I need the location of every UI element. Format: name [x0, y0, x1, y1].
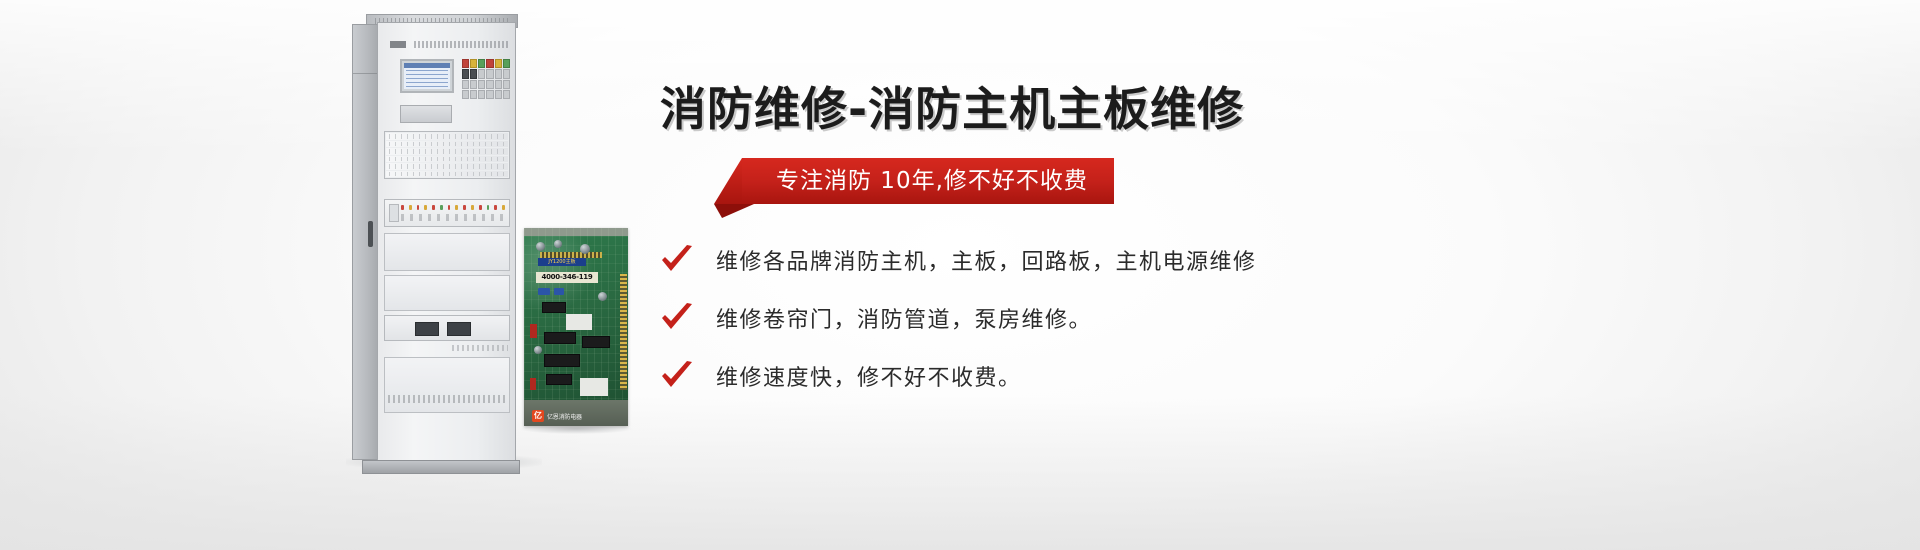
cabinet-brand-logo-icon	[390, 41, 406, 48]
cabinet-module-row	[386, 163, 508, 170]
pcb-capacitor	[598, 292, 607, 301]
cabinet-voltage-meter	[415, 322, 439, 336]
pcb-ic-chip	[544, 354, 580, 367]
pcb-ic-chip	[582, 336, 610, 348]
lamp-indicator-icon	[479, 205, 482, 210]
lamp-indicator-icon	[502, 205, 505, 210]
cabinet-module-row	[386, 133, 508, 140]
tagline-ribbon: 专注消防 10年,修不好不收费	[742, 158, 1114, 204]
cabinet-module-row	[386, 156, 508, 163]
lamp-indicator-icon	[463, 205, 466, 210]
keypad-key	[495, 59, 502, 68]
keypad-key	[462, 80, 469, 89]
cabinet-base-plinth	[362, 460, 520, 474]
cabinet-brand-row	[384, 41, 510, 49]
lamp-indicator-icon	[424, 205, 427, 210]
check-icon	[660, 303, 694, 333]
keypad-key	[486, 80, 493, 89]
lamp-indicator-icon	[487, 205, 490, 210]
fire-alarm-control-panel-cabinet	[352, 14, 532, 474]
feature-list: 维修各品牌消防主机，主板，回路板，主机电源维修 维修卷帘门，消防管道，泵房维修。…	[660, 244, 1840, 392]
cabinet-meter-panel	[384, 315, 510, 341]
vendor-logo-icon: 亿	[532, 410, 544, 422]
keypad-key	[503, 90, 510, 99]
banner-content: 消防维修-消防主机主板维修 专注消防 10年,修不好不收费 维修各品牌消防主机，…	[660, 86, 1840, 418]
pcb-capacitor	[580, 244, 590, 254]
keypad-key	[503, 69, 510, 78]
list-item-label: 维修卷帘门，消防管道，泵房维修。	[716, 302, 1092, 334]
page-title: 消防维修-消防主机主板维修	[660, 86, 1840, 132]
promo-banner: JY1200主板 4000-346-119 亿 亿恩消防电器 消防维修-消防主机…	[0, 0, 1920, 550]
cabinet-side-seam	[353, 73, 377, 74]
cabinet-module-row	[386, 141, 508, 148]
pcb-ic-chip	[544, 332, 576, 344]
pcb-red-component	[530, 378, 536, 390]
cabinet-blank-panel	[384, 275, 510, 311]
pcb-blue-label: JY1200主板	[538, 258, 586, 266]
keypad-key	[470, 80, 477, 89]
lamp-indicator-icon	[471, 205, 474, 210]
keypad-key	[470, 90, 477, 99]
keypad-key	[478, 69, 485, 78]
pcb-board: JY1200主板 4000-346-119 亿 亿恩消防电器	[524, 228, 628, 426]
pcb-blue-component	[554, 288, 564, 295]
keypad-key	[486, 59, 493, 68]
keypad-key	[486, 90, 493, 99]
list-item: 维修卷帘门，消防管道，泵房维修。	[660, 302, 1840, 334]
fire-alarm-main-board-photo: JY1200主板 4000-346-119 亿 亿恩消防电器	[524, 228, 628, 426]
cabinet-lamp-labels	[401, 214, 505, 221]
cabinet-side-door	[352, 24, 378, 460]
lamp-indicator-icon	[409, 205, 412, 210]
check-icon	[660, 361, 694, 391]
keypad-key	[495, 80, 502, 89]
keypad-key	[503, 59, 510, 68]
keypad-key	[478, 59, 485, 68]
pcb-edge-connector-right	[620, 274, 627, 390]
list-item: 维修各品牌消防主机，主板，回路板，主机电源维修	[660, 244, 1840, 276]
ribbon-left-notch	[714, 158, 742, 204]
keypad-key	[470, 69, 477, 78]
ribbon-fold-tail	[714, 204, 754, 218]
lamp-indicator-icon	[448, 205, 451, 210]
keypad-key	[495, 90, 502, 99]
pcb-vendor-watermark: 亿 亿恩消防电器	[532, 410, 582, 422]
keypad-key	[462, 90, 469, 99]
cabinet-lamp-mini-module	[389, 204, 399, 222]
lamp-indicator-icon	[455, 205, 458, 210]
keypad-key	[486, 69, 493, 78]
keypad-key	[478, 90, 485, 99]
pcb-phone-sticker: 4000-346-119	[536, 272, 598, 283]
lamp-indicator-icon	[440, 205, 443, 210]
pcb-blue-component	[538, 288, 550, 295]
cabinet-blank-panel	[384, 357, 510, 413]
cabinet-module-bank-upper	[384, 131, 510, 179]
cabinet-door-handle	[368, 221, 373, 247]
cabinet-module-row	[386, 171, 508, 178]
lamp-indicator-icon	[417, 205, 420, 210]
cabinet-company-label	[388, 395, 505, 403]
check-icon	[660, 245, 694, 275]
pcb-ic-chip	[546, 374, 572, 385]
pcb-white-component	[566, 314, 592, 330]
ribbon-text: 专注消防 10年,修不好不收费	[742, 158, 1114, 204]
list-item-label: 维修速度快，修不好不收费。	[716, 360, 1022, 392]
keypad-key	[462, 59, 469, 68]
cabinet-current-meter	[447, 322, 471, 336]
vendor-name-text: 亿恩消防电器	[547, 412, 582, 421]
cabinet-lcd-display	[400, 59, 454, 93]
cabinet-brand-text	[414, 41, 508, 48]
pcb-capacitor	[536, 242, 545, 251]
pcb-white-component	[580, 378, 608, 396]
pcb-capacitor	[554, 240, 562, 248]
pcb-capacitor	[534, 346, 542, 354]
cabinet-keypad	[462, 59, 510, 99]
keypad-key	[503, 80, 510, 89]
lamp-indicator-icon	[432, 205, 435, 210]
lamp-indicator-icon	[401, 205, 404, 210]
pcb-ic-chip	[542, 302, 566, 313]
cabinet-module-row	[386, 148, 508, 155]
cabinet-blank-panel	[384, 233, 510, 271]
list-item: 维修速度快，修不好不收费。	[660, 360, 1840, 392]
lamp-indicator-icon	[494, 205, 497, 210]
cabinet-lamp-list	[401, 205, 505, 210]
cabinet-meter-caption	[452, 345, 508, 351]
list-item-label: 维修各品牌消防主机，主板，回路板，主机电源维修	[716, 244, 1257, 276]
pcb-red-component	[530, 324, 537, 338]
keypad-key	[478, 80, 485, 89]
cabinet-printer-slot	[400, 105, 452, 123]
keypad-key	[462, 69, 469, 78]
cabinet-front-panel	[377, 22, 516, 464]
cabinet-lcd-screen	[404, 63, 450, 89]
cabinet-indicator-lamp-bank	[384, 199, 510, 227]
cabinet-keypad-grid	[462, 59, 510, 99]
keypad-key	[470, 59, 477, 68]
keypad-key	[495, 69, 502, 78]
